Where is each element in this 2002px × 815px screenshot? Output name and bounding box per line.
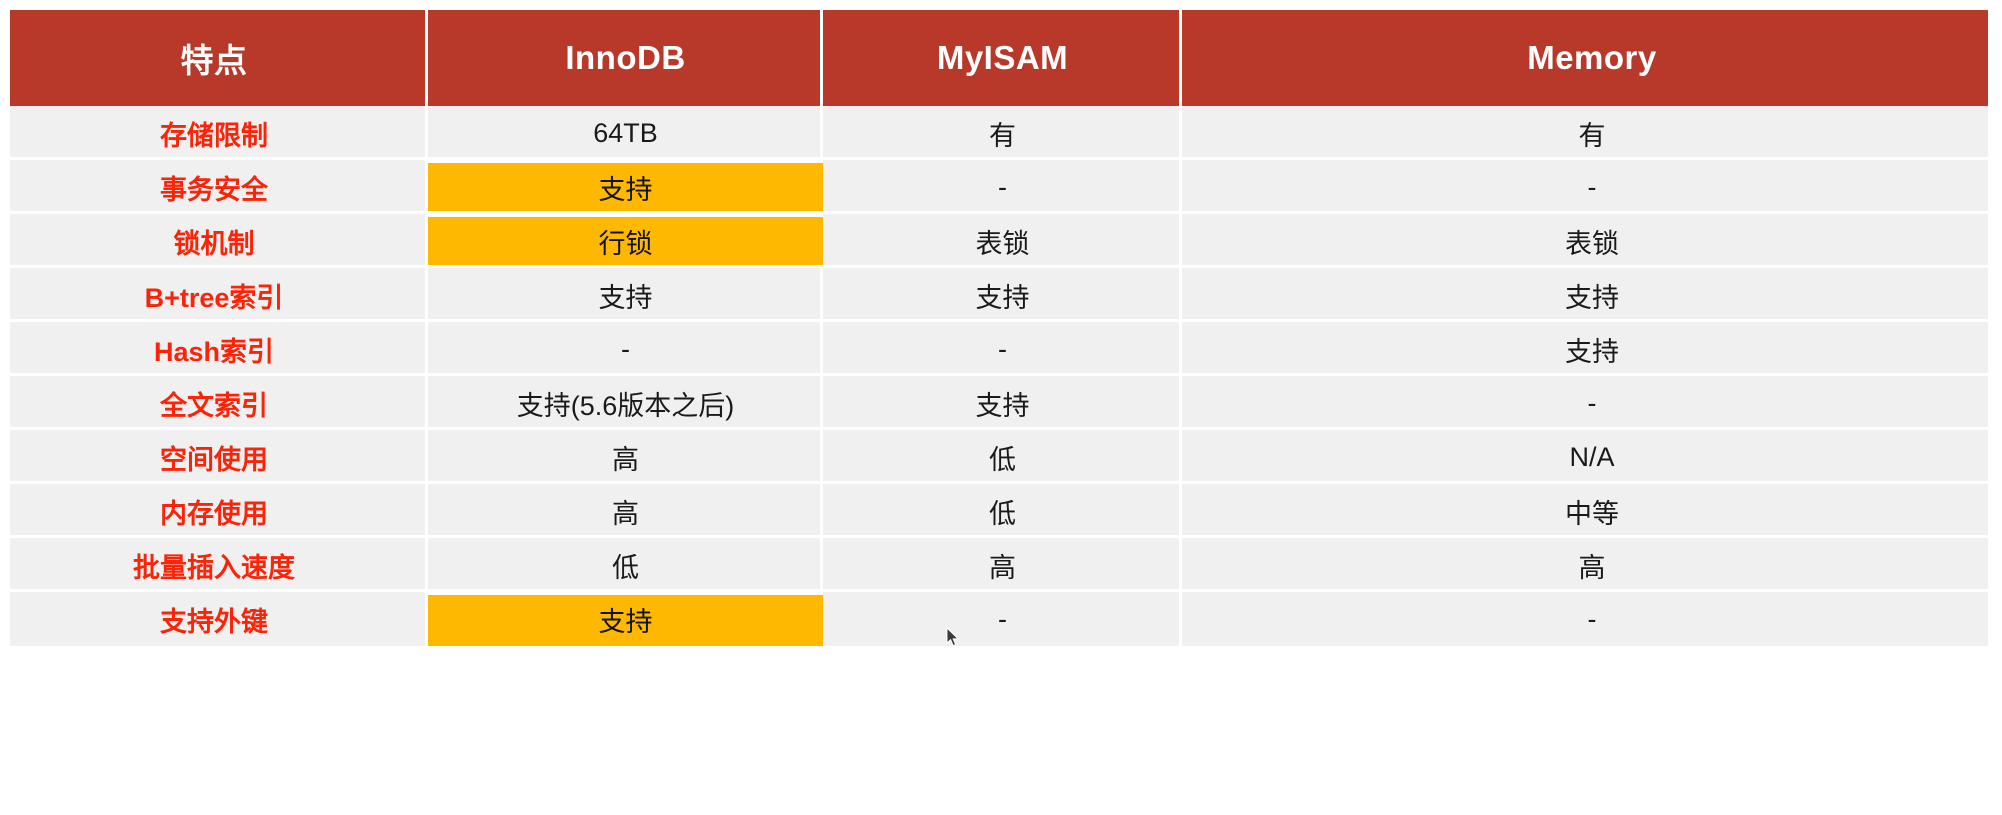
cell-feature: 空间使用 — [0, 430, 428, 484]
cell-myisam: 表锁 — [823, 214, 1182, 268]
column-header-feature: 特点 — [0, 10, 428, 106]
column-header-memory: Memory — [1182, 10, 2002, 106]
cell-feature: 锁机制 — [0, 214, 428, 268]
table-row: 批量插入速度 低 高 高 — [0, 538, 2002, 592]
cell-feature: 内存使用 — [0, 484, 428, 538]
cell-memory: 中等 — [1182, 484, 2002, 538]
cell-memory: - — [1182, 160, 2002, 214]
cell-innodb: 行锁 — [428, 214, 823, 268]
cell-myisam: 低 — [823, 484, 1182, 538]
cell-myisam: 支持 — [823, 376, 1182, 430]
column-header-feature-label: 特点 — [181, 34, 248, 82]
column-header-innodb: InnoDB — [428, 10, 823, 106]
cell-innodb: 支持 — [428, 592, 823, 646]
column-header-innodb-label: InnoDB — [565, 39, 685, 77]
table-body: 存储限制 64TB 有 有 事务安全 支持 - - 锁机制 行锁 表锁 表锁 B… — [0, 106, 2002, 646]
cell-myisam: 高 — [823, 538, 1182, 592]
cell-memory: 支持 — [1182, 322, 2002, 376]
table-row: Hash索引 - - 支持 — [0, 322, 2002, 376]
cell-innodb: 支持 — [428, 268, 823, 322]
cell-innodb: 低 — [428, 538, 823, 592]
table-header: 特点 InnoDB MyISAM Memory — [0, 10, 2002, 106]
comparison-sheet: 特点 InnoDB MyISAM Memory 存储限制 64TB 有 有 — [0, 0, 2002, 815]
cell-memory: 有 — [1182, 106, 2002, 160]
cell-myisam: 支持 — [823, 268, 1182, 322]
cell-innodb: 支持(5.6版本之后) — [428, 376, 823, 430]
cell-feature: 全文索引 — [0, 376, 428, 430]
cell-feature: 批量插入速度 — [0, 538, 428, 592]
table-row: B+tree索引 支持 支持 支持 — [0, 268, 2002, 322]
cell-myisam: - — [823, 322, 1182, 376]
cell-innodb: - — [428, 322, 823, 376]
cell-innodb: 支持 — [428, 160, 823, 214]
cell-memory: 表锁 — [1182, 214, 2002, 268]
table-row: 锁机制 行锁 表锁 表锁 — [0, 214, 2002, 268]
cell-feature: Hash索引 — [0, 322, 428, 376]
cell-myisam: 有 — [823, 106, 1182, 160]
cell-innodb: 64TB — [428, 106, 823, 160]
cell-myisam: - — [823, 592, 1182, 646]
column-header-myisam: MyISAM — [823, 10, 1182, 106]
cell-innodb: 高 — [428, 430, 823, 484]
column-header-memory-label: Memory — [1527, 39, 1657, 77]
storage-engine-comparison-table: 特点 InnoDB MyISAM Memory 存储限制 64TB 有 有 — [0, 10, 2002, 646]
table-row: 存储限制 64TB 有 有 — [0, 106, 2002, 160]
cell-memory: N/A — [1182, 430, 2002, 484]
table-row: 内存使用 高 低 中等 — [0, 484, 2002, 538]
table-row: 事务安全 支持 - - — [0, 160, 2002, 214]
cell-memory: - — [1182, 592, 2002, 646]
cell-memory: 高 — [1182, 538, 2002, 592]
cell-memory: - — [1182, 376, 2002, 430]
column-header-myisam-label: MyISAM — [937, 39, 1068, 77]
cell-feature: 事务安全 — [0, 160, 428, 214]
cell-myisam: 低 — [823, 430, 1182, 484]
table-header-row: 特点 InnoDB MyISAM Memory — [0, 10, 2002, 106]
table-row: 空间使用 高 低 N/A — [0, 430, 2002, 484]
cell-memory: 支持 — [1182, 268, 2002, 322]
table-row: 支持外键 支持 - - — [0, 592, 2002, 646]
cell-feature: B+tree索引 — [0, 268, 428, 322]
cell-feature: 存储限制 — [0, 106, 428, 160]
cell-feature: 支持外键 — [0, 592, 428, 646]
cell-myisam: - — [823, 160, 1182, 214]
table-row: 全文索引 支持(5.6版本之后) 支持 - — [0, 376, 2002, 430]
cell-innodb: 高 — [428, 484, 823, 538]
